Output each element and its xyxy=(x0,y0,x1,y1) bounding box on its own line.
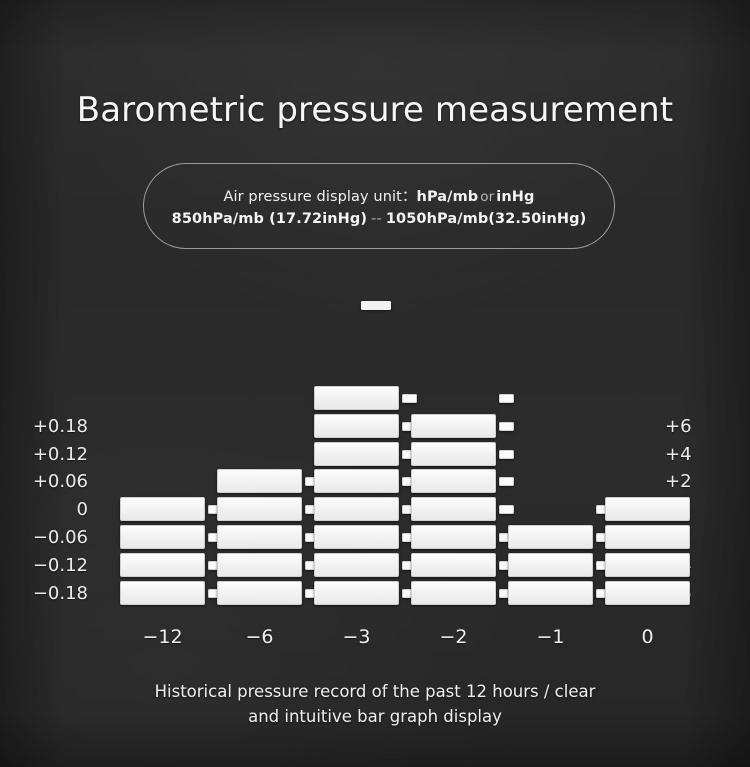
bar-row xyxy=(120,469,644,493)
bar-row xyxy=(120,525,644,549)
left-axis-tick: 0 xyxy=(77,501,88,519)
bar-segment xyxy=(217,525,302,549)
product-feature-panel: Barometric pressure measurement Air pres… xyxy=(0,0,750,767)
bar-cell-0 xyxy=(605,525,690,549)
bar-segment xyxy=(605,525,690,549)
bar-cell-minus2 xyxy=(411,525,496,549)
bar-segment xyxy=(411,442,496,466)
bar-cell-minus1 xyxy=(508,469,593,493)
bar-segment xyxy=(411,414,496,438)
bar-segment xyxy=(314,386,399,410)
bar-cell-minus1 xyxy=(508,497,593,521)
bar-cell-minus12 xyxy=(120,386,205,410)
bar-cell-minus6 xyxy=(217,469,302,493)
bar-segment xyxy=(120,525,205,549)
bar-row xyxy=(120,414,644,438)
bar-cell-minus2 xyxy=(411,553,496,577)
bar-row xyxy=(120,581,644,605)
x-axis-tick: −3 xyxy=(314,626,399,652)
bar-segment xyxy=(314,553,399,577)
bar-segment xyxy=(217,553,302,577)
bar-segment xyxy=(605,581,690,605)
range-high: 1050hPa/mb(32.50inHg) xyxy=(386,211,587,227)
left-axis-tick: −0.12 xyxy=(33,557,88,575)
bar-segment xyxy=(508,581,593,605)
bar-cell-minus1 xyxy=(508,553,593,577)
bar-segment xyxy=(605,497,690,521)
bar-cell-minus6 xyxy=(217,497,302,521)
bar-cell-minus1 xyxy=(508,414,593,438)
unit-hpa: hPa/mb xyxy=(417,189,479,205)
bar-segment xyxy=(314,581,399,605)
unit-inhg: inHg xyxy=(496,189,534,205)
bar-cell-0 xyxy=(605,497,690,521)
bar-segment xyxy=(314,469,399,493)
unit-conjunction: or xyxy=(478,189,496,205)
unit-info-pill: Air pressure display unit：hPa/mborinHg 8… xyxy=(143,163,615,249)
bar-cell-minus3 xyxy=(314,469,399,493)
bar-cell-minus2 xyxy=(411,442,496,466)
bar-cell-minus12 xyxy=(120,525,205,549)
unit-info-line-2: 850hPa/mb (17.72inHg)--1050hPa/mb(32.50i… xyxy=(172,211,587,227)
bar-cell-minus6 xyxy=(217,386,302,410)
x-axis-tick: −1 xyxy=(508,626,593,652)
x-axis-tick: −12 xyxy=(120,626,205,652)
bar-plot-area xyxy=(120,386,644,621)
bar-cell-minus6 xyxy=(217,553,302,577)
bar-segment xyxy=(314,525,399,549)
x-axis-tick: 0 xyxy=(605,626,690,652)
bar-row xyxy=(120,553,644,577)
bar-cell-minus12 xyxy=(120,553,205,577)
bar-cell-0 xyxy=(605,386,690,410)
bar-segment xyxy=(508,553,593,577)
bar-row xyxy=(120,497,644,521)
bar-row xyxy=(120,386,644,410)
caption-line-1: Historical pressure record of the past 1… xyxy=(0,679,750,704)
bar-segment xyxy=(314,414,399,438)
bar-cell-minus6 xyxy=(217,525,302,549)
bar-cell-minus3 xyxy=(314,581,399,605)
bar-cell-minus3 xyxy=(314,386,399,410)
chart-caption: Historical pressure record of the past 1… xyxy=(0,679,750,729)
bar-segment xyxy=(120,581,205,605)
x-axis: −12−6−3−2−10 xyxy=(120,626,644,652)
bar-cell-minus2 xyxy=(411,497,496,521)
bar-cell-minus2 xyxy=(411,469,496,493)
bar-segment xyxy=(217,581,302,605)
range-low: 850hPa/mb (17.72inHg) xyxy=(172,211,367,227)
bar-cell-minus6 xyxy=(217,442,302,466)
bar-cell-minus12 xyxy=(120,414,205,438)
left-axis-tick: +0.18 xyxy=(33,418,88,436)
bar-cell-minus1 xyxy=(508,581,593,605)
bar-cell-minus2 xyxy=(411,414,496,438)
bar-segment xyxy=(508,525,593,549)
bar-cell-minus3 xyxy=(314,497,399,521)
left-axis-tick: −0.18 xyxy=(33,585,88,603)
bar-cell-minus3 xyxy=(314,553,399,577)
left-axis-tick: +0.12 xyxy=(33,446,88,464)
bar-cell-0 xyxy=(605,442,690,466)
bar-cell-0 xyxy=(605,414,690,438)
bar-cell-0 xyxy=(605,581,690,605)
bar-cell-0 xyxy=(605,553,690,577)
bar-segment xyxy=(314,497,399,521)
x-axis-tick: −6 xyxy=(217,626,302,652)
bar-segment xyxy=(120,497,205,521)
left-axis-tick: +0.06 xyxy=(33,473,88,491)
bar-cell-minus6 xyxy=(217,414,302,438)
bar-cell-minus3 xyxy=(314,525,399,549)
bar-cell-minus12 xyxy=(120,469,205,493)
bar-cell-minus3 xyxy=(314,442,399,466)
bar-cell-minus2 xyxy=(411,581,496,605)
bar-segment xyxy=(120,553,205,577)
bar-segment xyxy=(217,497,302,521)
bar-segment xyxy=(605,553,690,577)
bar-cell-minus1 xyxy=(508,442,593,466)
bar-segment xyxy=(217,469,302,493)
caption-line-2: and intuitive bar graph display xyxy=(0,704,750,729)
bar-segment xyxy=(411,525,496,549)
bar-segment xyxy=(411,497,496,521)
range-dash: -- xyxy=(367,211,386,227)
unit-info-line-1: Air pressure display unit：hPa/mborinHg xyxy=(223,185,534,206)
bar-cell-minus12 xyxy=(120,442,205,466)
x-axis-tick: −2 xyxy=(411,626,496,652)
bar-cell-minus1 xyxy=(508,386,593,410)
bar-segment xyxy=(314,442,399,466)
left-axis-tick: −0.06 xyxy=(33,529,88,547)
bar-row xyxy=(120,442,644,466)
bar-cell-minus1 xyxy=(508,525,593,549)
bar-cell-minus3 xyxy=(314,414,399,438)
pressure-bar-chart: +0.18+0.12+0.060−0.06−0.12−0.18 +6+4+20−… xyxy=(0,386,750,621)
unit-label: Air pressure display unit： xyxy=(223,189,416,205)
bar-segment xyxy=(411,553,496,577)
bar-segment xyxy=(411,581,496,605)
bar-cell-minus6 xyxy=(217,581,302,605)
bar-cell-minus2 xyxy=(411,386,496,410)
center-indicator-dash xyxy=(361,301,391,310)
bar-cell-minus12 xyxy=(120,497,205,521)
bar-segment xyxy=(411,469,496,493)
bar-cell-minus12 xyxy=(120,581,205,605)
page-title: Barometric pressure measurement xyxy=(0,90,750,130)
bar-cell-0 xyxy=(605,469,690,493)
